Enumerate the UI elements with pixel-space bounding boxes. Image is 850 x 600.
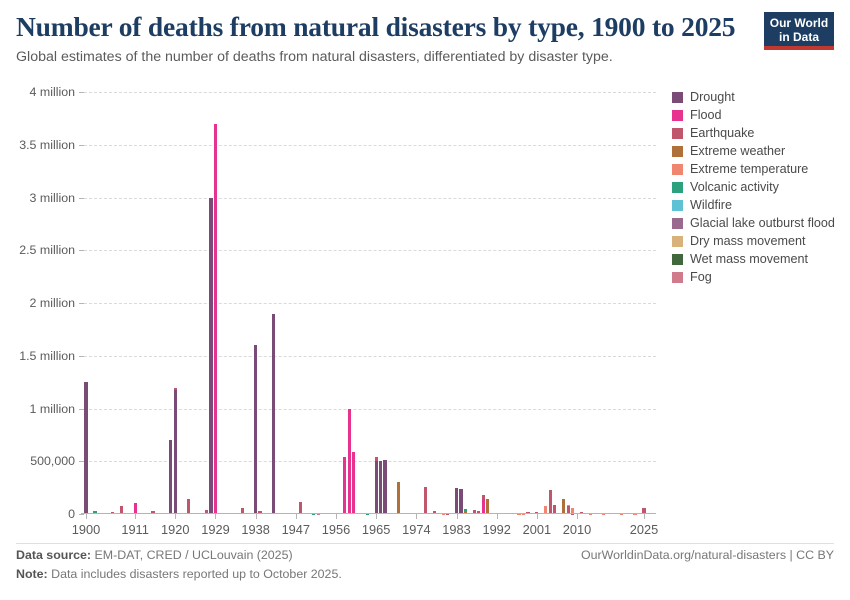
logo-line-2: in Data (764, 30, 834, 44)
source-text: EM-DAT, CRED / UCLouvain (2025) (95, 548, 293, 562)
bar-stack[interactable] (187, 499, 190, 514)
x-axis-tick-mark (577, 514, 578, 519)
bar-segment (375, 461, 378, 514)
x-axis-tick-mark (497, 514, 498, 519)
source-label: Data source: (16, 548, 91, 562)
y-axis-tick-label: 4 million (30, 85, 75, 99)
x-axis-tick-mark (376, 514, 377, 519)
bar-stack[interactable] (343, 457, 346, 514)
legend-label: Wildfire (690, 199, 732, 212)
x-axis-tick-mark (86, 514, 87, 519)
bar-segment (486, 499, 489, 514)
legend-item-fog[interactable]: Fog (672, 268, 850, 286)
bar-stack[interactable] (459, 489, 462, 514)
bar-stack[interactable] (272, 314, 275, 514)
bar-stack[interactable] (379, 461, 382, 514)
bar-segment (348, 409, 351, 515)
bar-segment (482, 495, 485, 500)
note-label: Note: (16, 567, 48, 581)
chart-legend: DroughtFloodEarthquakeExtreme weatherExt… (672, 88, 850, 286)
owid-logo[interactable]: Our World in Data (764, 12, 834, 50)
x-axis-tick-label: 1983 (442, 522, 470, 537)
legend-swatch-icon (672, 236, 683, 247)
legend-swatch-icon (672, 146, 683, 157)
x-axis-tick-label: 1929 (201, 522, 229, 537)
bar-segment (379, 461, 382, 514)
bar-stack[interactable] (375, 457, 378, 514)
x-axis-tick-label: 1920 (161, 522, 189, 537)
x-axis-tick-mark (416, 514, 417, 519)
x-axis-tick-mark (256, 514, 257, 519)
x-axis-tick-label: 1965 (362, 522, 390, 537)
y-axis-tick-mark (79, 514, 84, 515)
legend-swatch-icon (672, 254, 683, 265)
logo-line-1: Our World (764, 16, 834, 30)
bar-segment (209, 198, 212, 515)
legend-item-flood[interactable]: Flood (672, 106, 850, 124)
legend-item-extreme-weather[interactable]: Extreme weather (672, 142, 850, 160)
chart-header: Number of deaths from natural disasters … (16, 12, 834, 66)
x-axis-tick-label: 1974 (402, 522, 430, 537)
bar-stack[interactable] (214, 124, 217, 514)
bar-segment (169, 440, 172, 514)
bar-segment (482, 499, 485, 514)
bar-stack[interactable] (254, 345, 257, 514)
bar-segment (343, 457, 346, 514)
legend-swatch-icon (672, 164, 683, 175)
y-axis-tick-label: 0 (68, 507, 75, 521)
legend-swatch-icon (672, 218, 683, 229)
legend-label: Glacial lake outburst flood (690, 217, 835, 230)
bar-stack[interactable] (562, 499, 565, 514)
bar-stack[interactable] (352, 452, 355, 514)
bar-segment (272, 314, 275, 514)
y-axis-tick-label: 3.5 million (19, 138, 75, 152)
bar-segment (174, 388, 177, 390)
bar-stack[interactable] (397, 482, 400, 514)
legend-swatch-icon (672, 128, 683, 139)
y-axis-tick-label: 1.5 million (19, 349, 75, 363)
legend-label: Drought (690, 91, 735, 104)
bar-segment (459, 489, 462, 514)
legend-label: Fog (690, 271, 712, 284)
x-axis-tick-label: 2025 (630, 522, 658, 537)
bar-stack[interactable] (455, 488, 458, 514)
x-axis-tick-label: 1938 (241, 522, 269, 537)
legend-swatch-icon (672, 182, 683, 193)
legend-label: Extreme temperature (690, 163, 808, 176)
bar-stack[interactable] (84, 382, 87, 514)
x-axis-tick-mark (175, 514, 176, 519)
legend-item-wildfire[interactable]: Wildfire (672, 196, 850, 214)
legend-swatch-icon (672, 110, 683, 121)
x-axis-tick-mark (537, 514, 538, 519)
x-axis-tick-label: 1956 (322, 522, 350, 537)
chart-subtitle: Global estimates of the number of deaths… (16, 48, 834, 66)
zero-axis-line (81, 513, 656, 514)
chart-footer: Data source: EM-DAT, CRED / UCLouvain (2… (16, 548, 834, 586)
legend-item-extreme-temperature[interactable]: Extreme temperature (672, 160, 850, 178)
x-axis-tick-label: 1947 (282, 522, 310, 537)
attribution-link[interactable]: OurWorldinData.org/natural-disasters | C… (581, 548, 834, 562)
bar-segment (375, 457, 378, 461)
bar-segment (549, 490, 552, 514)
bar-stack[interactable] (383, 460, 386, 514)
page-title: Number of deaths from natural disasters … (16, 12, 834, 43)
bar-segment (383, 460, 386, 514)
bar-segment (562, 499, 565, 514)
bar-segment (84, 382, 87, 514)
legend-item-glacial-lake-outburst-flood[interactable]: Glacial lake outburst flood (672, 214, 850, 232)
legend-label: Wet mass movement (690, 253, 808, 266)
x-axis-tick-mark (457, 514, 458, 519)
legend-label: Earthquake (690, 127, 754, 140)
legend-item-earthquake[interactable]: Earthquake (672, 124, 850, 142)
bars-layer (84, 92, 656, 514)
x-axis-tick-label: 1911 (121, 522, 149, 537)
y-axis-tick-label: 3 million (30, 191, 75, 205)
bar-stack[interactable] (169, 440, 172, 514)
bar-segment (455, 488, 458, 514)
footer-source-row: Data source: EM-DAT, CRED / UCLouvain (2… (16, 548, 834, 567)
bar-segment (174, 390, 177, 514)
legend-swatch-icon (672, 92, 683, 103)
x-axis-tick-label: 2010 (563, 522, 591, 537)
bar-stack[interactable] (209, 198, 212, 515)
legend-item-wet-mass-movement[interactable]: Wet mass movement (672, 250, 850, 268)
y-axis-tick-label: 2 million (30, 296, 75, 310)
bar-segment (424, 487, 427, 514)
bar-stack[interactable] (174, 388, 177, 514)
bar-stack[interactable] (482, 494, 485, 514)
legend-item-volcanic-activity[interactable]: Volcanic activity (672, 178, 850, 196)
y-axis-tick-label: 500,000 (30, 454, 75, 468)
legend-label: Volcanic activity (690, 181, 779, 194)
bar-stack[interactable] (424, 487, 427, 514)
legend-item-drought[interactable]: Drought (672, 88, 850, 106)
bar-segment (397, 482, 400, 514)
y-axis-tick-label: 2.5 million (19, 243, 75, 257)
bar-segment (254, 345, 257, 514)
note-text: Data includes disasters reported up to O… (51, 567, 342, 581)
bar-segment (464, 509, 467, 511)
x-axis-tick-mark (296, 514, 297, 519)
footer-divider (16, 543, 834, 544)
x-axis-tick-label: 1992 (482, 522, 510, 537)
bar-segment (214, 124, 217, 514)
x-axis-tick-mark (215, 514, 216, 519)
legend-item-dry-mass-movement[interactable]: Dry mass movement (672, 232, 850, 250)
x-axis-tick-mark (644, 514, 645, 519)
bar-stack[interactable] (549, 490, 552, 514)
legend-label: Flood (690, 109, 722, 122)
bar-stack[interactable] (348, 409, 351, 515)
x-axis-tick-mark (336, 514, 337, 519)
bar-stack[interactable] (486, 499, 489, 514)
legend-swatch-icon (672, 200, 683, 211)
legend-label: Extreme weather (690, 145, 785, 158)
x-axis-tick-label: 2001 (523, 522, 551, 537)
footer-note-row: Note: Data includes disasters reported u… (16, 567, 834, 586)
bar-segment (352, 452, 355, 514)
bar-segment (187, 499, 190, 514)
legend-swatch-icon (672, 272, 683, 283)
y-axis-tick-label: 1 million (30, 402, 75, 416)
chart-plot-area: 0500,0001 million1.5 million2 million2.5… (84, 92, 656, 514)
legend-label: Dry mass movement (690, 235, 805, 248)
x-axis-tick-label: 1900 (72, 522, 100, 537)
x-axis-tick-mark (135, 514, 136, 519)
